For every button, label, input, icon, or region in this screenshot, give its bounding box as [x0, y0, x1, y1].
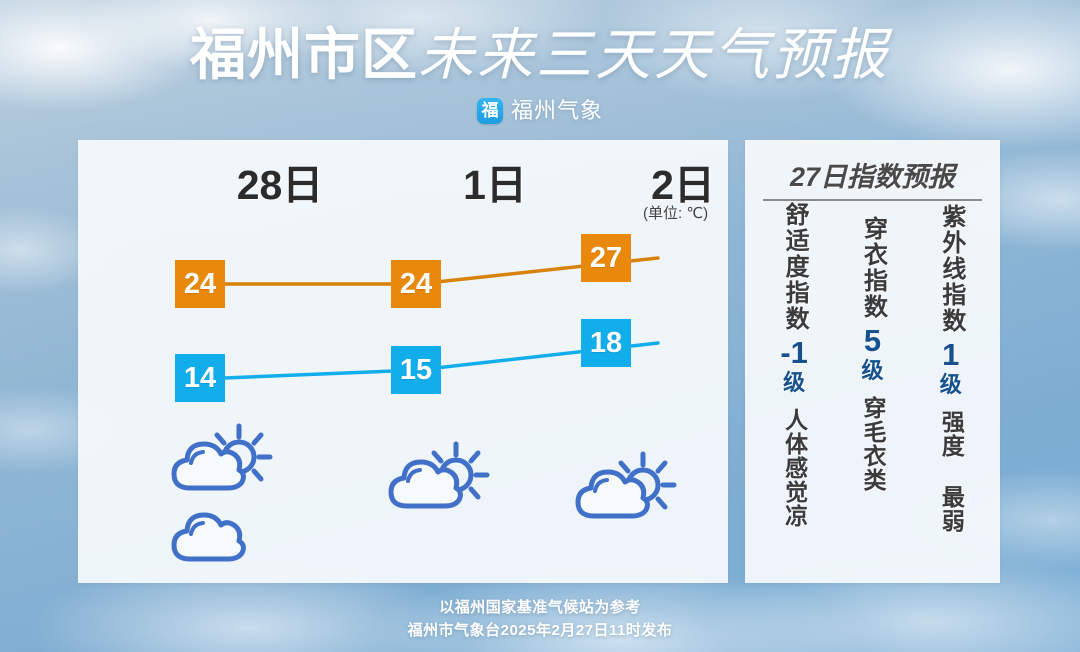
index-name-clothing: 穿衣指数	[859, 216, 885, 320]
footer-line-1: 以福州国家基准气候站为参考	[0, 596, 1080, 619]
index-value-group-comfort: -1 级	[780, 336, 808, 396]
low-temp-badge-2: 18	[581, 319, 631, 367]
index-unit-uv: 级	[940, 372, 962, 398]
footer-line-2: 福州市气象台2025年2月27日11时发布	[0, 619, 1080, 642]
index-value-group-uv: 1 级	[940, 338, 962, 398]
index-unit-comfort: 级	[783, 370, 805, 396]
cloud-shape	[391, 462, 460, 506]
poster-header: 福州市区未来三天天气预报 福 福州气象	[0, 22, 1080, 124]
index-value-comfort: -1	[780, 336, 808, 370]
index-name-uv: 紫外线指数	[938, 204, 964, 334]
index-desc-clothing: 穿毛衣类	[860, 396, 885, 492]
index-columns: 紫外线指数 1 级 强度 最弱 穿衣指数 5 级 穿毛衣类 舒适度指数 -1	[755, 202, 990, 567]
cloud-shape	[578, 472, 647, 516]
index-panel-title: 27日指数预报	[763, 158, 982, 201]
fuzhou-logo-icon: 福	[477, 98, 503, 124]
temperature-chart: 24 24 27 14 15 18	[78, 140, 728, 583]
index-column-comfort: 舒适度指数 -1 级 人体感觉凉	[762, 202, 826, 567]
high-temp-badge-2: 27	[581, 234, 631, 282]
high-temp-badge-0: 24	[175, 260, 225, 308]
index-unit-clothing: 级	[861, 358, 883, 384]
weather-forecast-poster: 福州市区未来三天天气预报 福 福州气象 28日 1日 2日 (单位: ℃) 24…	[0, 0, 1080, 652]
index-value-clothing: 5	[864, 324, 881, 358]
index-desc-uv: 强度 最弱	[938, 410, 963, 533]
low-temp-badge-0: 14	[175, 354, 225, 402]
index-value-group-clothing: 5 级	[861, 324, 883, 384]
brand-name: 福州气象	[511, 98, 603, 124]
index-value-uv: 1	[942, 338, 959, 372]
low-temp-badge-1: 15	[391, 346, 441, 394]
index-column-clothing: 穿衣指数 5 级 穿毛衣类	[840, 202, 904, 567]
high-temp-badge-1: 24	[391, 260, 441, 308]
index-name-comfort: 舒适度指数	[781, 202, 807, 332]
index-column-uv: 紫外线指数 1 级 强度 最弱	[919, 202, 983, 567]
page-title-subject: 未来三天天气预报	[418, 23, 890, 86]
index-desc-comfort: 人体感觉凉	[782, 408, 807, 528]
cloud-shape	[174, 515, 243, 559]
forecast-panel: 28日 1日 2日 (单位: ℃) 24 24 27 14 15 18	[78, 140, 728, 583]
cloud-shape	[174, 444, 243, 488]
index-panel: 27日指数预报 紫外线指数 1 级 强度 最弱 穿衣指数 5 级 穿毛衣类 舒适…	[745, 140, 1000, 583]
brand: 福 福州气象	[477, 98, 603, 124]
page-title: 福州市区未来三天天气预报	[0, 22, 1080, 88]
page-title-city: 福州市区	[190, 23, 418, 86]
footer: 以福州国家基准气候站为参考 福州市气象台2025年2月27日11时发布	[0, 596, 1080, 642]
